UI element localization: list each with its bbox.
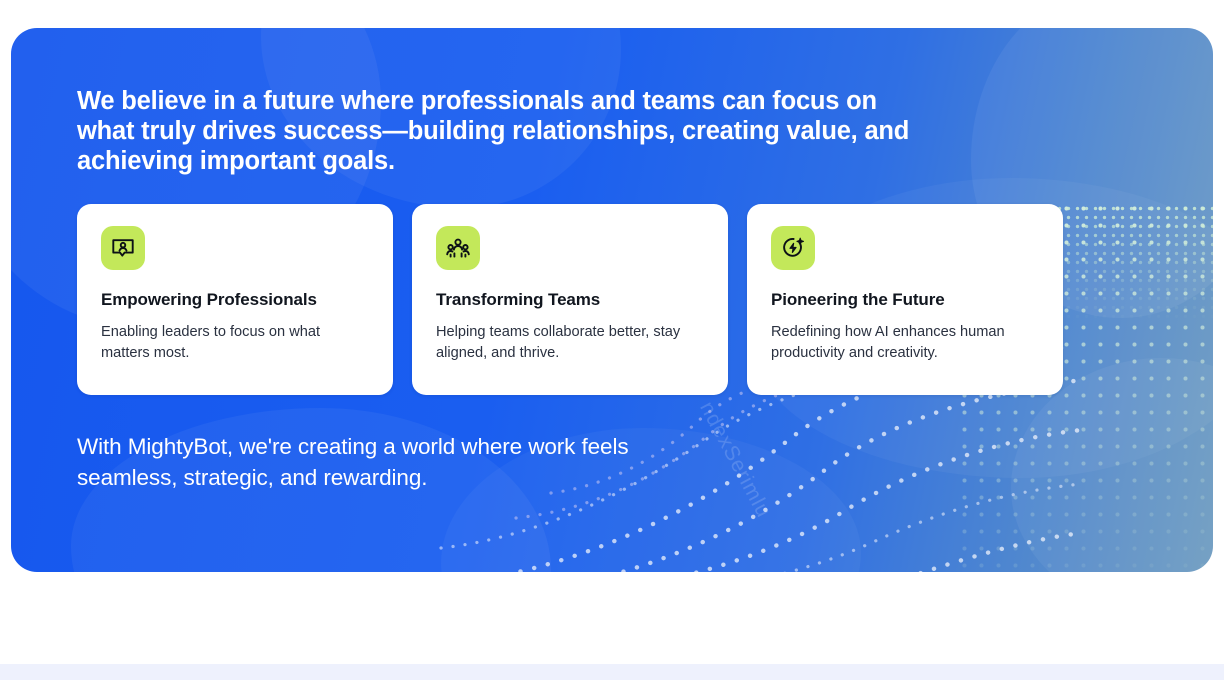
hero-closing-statement: With MightyBot, we're creating a world w… [77,431,717,493]
feature-card-description: Redefining how AI enhances human product… [771,322,1039,364]
bolt-sparkle-icon [771,226,815,270]
user-card-icon [101,226,145,270]
hero-headline: We believe in a future where professiona… [77,86,937,176]
hero-content: We believe in a future where professiona… [11,28,1213,493]
people-group-icon [436,226,480,270]
feature-card-title: Pioneering the Future [771,290,1039,310]
page-background: ndexSerimlu We believe in a future where… [0,0,1224,680]
bottom-strip [0,664,1224,680]
feature-card: Pioneering the Future Redefining how AI … [747,204,1063,395]
feature-card-list: Empowering Professionals Enabling leader… [77,204,1213,395]
feature-card: Empowering Professionals Enabling leader… [77,204,393,395]
feature-card: Transforming Teams Helping teams collabo… [412,204,728,395]
feature-card-title: Empowering Professionals [101,290,369,310]
hero-panel: ndexSerimlu We believe in a future where… [11,28,1213,572]
feature-card-title: Transforming Teams [436,290,704,310]
feature-card-description: Enabling leaders to focus on what matter… [101,322,369,364]
feature-card-description: Helping teams collaborate better, stay a… [436,322,704,364]
